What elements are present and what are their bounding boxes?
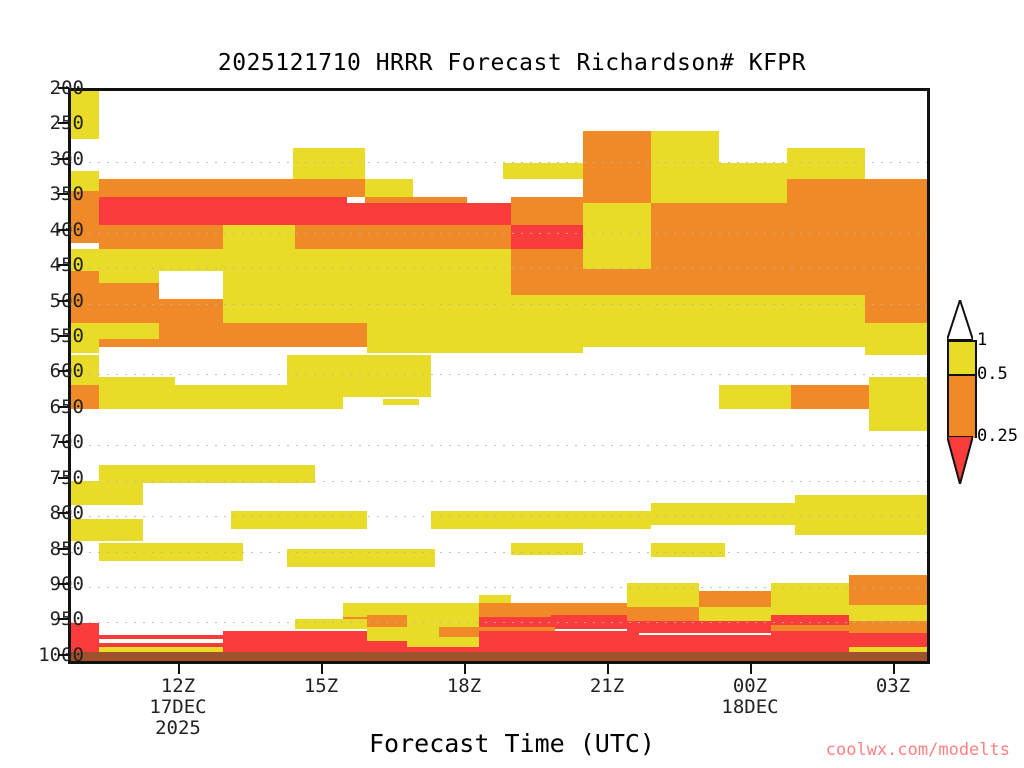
x-axis-tick-label: 00Z18DEC	[721, 676, 778, 718]
heatmap-cell	[787, 179, 865, 203]
heatmap-cell	[223, 323, 367, 347]
heatmap-cell	[159, 323, 223, 347]
heatmap-cell	[865, 249, 930, 295]
heatmap-cell	[503, 163, 583, 179]
heatmap-cell	[99, 197, 223, 225]
heatmap-cell	[865, 203, 930, 249]
heatmap-cell	[99, 283, 159, 299]
heatmap-cell	[99, 225, 223, 249]
heatmap-cell	[223, 225, 295, 249]
colorbar-segment	[947, 340, 977, 376]
chart-page: 2025121710 HRRR Forecast Richardson# KFP…	[0, 0, 1024, 768]
heatmap-cell	[511, 339, 583, 353]
y-axis-tick-mark	[58, 654, 69, 656]
y-axis-tick-mark	[58, 477, 69, 479]
heatmap-cell	[223, 265, 295, 299]
x-axis-tick-mark	[178, 664, 180, 674]
heatmap-cell	[869, 377, 930, 401]
heatmap-cell	[651, 249, 719, 295]
heatmap-cell	[849, 575, 930, 605]
x-axis-tick-line: 00Z	[721, 676, 778, 697]
heatmap-cell	[627, 607, 699, 621]
x-axis-tick-line: 17DEC	[149, 697, 206, 718]
plot-area	[68, 88, 930, 664]
x-axis-tick-line: 18DEC	[721, 697, 778, 718]
heatmap-cell	[787, 203, 865, 249]
heatmap-cell	[651, 543, 725, 557]
heatmap-cell	[869, 401, 930, 431]
heatmap-cell	[651, 179, 719, 203]
heatmap-cell	[99, 249, 223, 271]
y-axis-tick-mark	[58, 264, 69, 266]
y-axis-tick-mark	[58, 406, 69, 408]
x-axis-tick-label: 21Z	[590, 676, 624, 697]
heatmap-cell	[99, 179, 223, 197]
heatmap-cell	[583, 249, 651, 269]
heatmap-cell	[295, 225, 439, 249]
heatmap-cell	[99, 639, 223, 643]
heatmap-cell	[849, 621, 930, 633]
heatmap-cells	[71, 91, 927, 661]
heatmap-cell	[651, 323, 719, 347]
heatmap-cell	[551, 615, 627, 629]
heatmap-cell	[651, 503, 723, 525]
x-axis-tick-mark	[750, 664, 752, 674]
heatmap-cell	[243, 465, 315, 483]
heatmap-cell	[699, 621, 771, 633]
heatmap-cell	[699, 607, 771, 621]
heatmap-cell	[795, 495, 867, 513]
x-axis-tick-line: 03Z	[876, 676, 910, 697]
heatmap-cell	[865, 295, 930, 323]
heatmap-cell	[719, 163, 787, 203]
heatmap-cell	[295, 511, 367, 529]
heatmap-cell	[511, 197, 583, 225]
heatmap-cell	[383, 399, 419, 405]
heatmap-cell	[867, 495, 930, 513]
heatmap-cell	[367, 339, 511, 353]
heatmap-cell	[511, 225, 583, 249]
heatmap-cell	[99, 271, 159, 283]
y-axis-tick-mark	[58, 158, 69, 160]
colorbar-tick-label: 0.5	[977, 364, 1008, 384]
heatmap-cell	[231, 511, 295, 529]
x-axis-tick-label: 18Z	[447, 676, 481, 697]
heatmap-cell	[579, 511, 651, 529]
heatmap-cell	[795, 513, 930, 535]
heatmap-cell	[719, 323, 787, 347]
x-axis-tick-mark	[893, 664, 895, 674]
heatmap-cell	[719, 385, 791, 409]
heatmap-cell	[383, 385, 415, 393]
x-axis-tick-line: 18Z	[447, 676, 481, 697]
heatmap-cell	[791, 385, 869, 409]
colorbar-arrow-bottom	[947, 436, 973, 484]
heatmap-cell	[407, 637, 479, 647]
heatmap-cell	[295, 631, 367, 641]
colorbar-arrow-top-outline	[947, 300, 973, 340]
heatmap-cell	[439, 225, 511, 249]
heatmap-cell	[479, 631, 639, 641]
heatmap-cell	[293, 148, 365, 179]
heatmap-cell	[407, 615, 479, 627]
y-axis-tick-mark	[58, 122, 69, 124]
heatmap-cell	[771, 615, 849, 625]
heatmap-cell	[719, 295, 787, 323]
heatmap-cell	[295, 619, 367, 629]
heatmap-cell	[719, 203, 787, 249]
heatmap-cell	[865, 179, 930, 203]
heatmap-cell	[365, 179, 413, 199]
heatmap-cell	[511, 249, 583, 295]
x-axis-tick-line: 12Z	[149, 676, 206, 697]
heatmap-cell	[295, 265, 367, 299]
y-axis-tick-mark	[58, 370, 69, 372]
y-axis-tick-mark	[58, 300, 69, 302]
y-axis-tick-mark	[58, 87, 69, 89]
y-axis-tick-mark	[58, 583, 69, 585]
y-axis-tick-mark	[58, 441, 69, 443]
heatmap-cell	[223, 197, 347, 225]
y-axis-tick-mark	[58, 618, 69, 620]
y-axis-tick-mark	[58, 335, 69, 337]
heatmap-cell	[99, 543, 243, 561]
heatmap-cell	[583, 295, 651, 325]
heatmap-cell	[583, 131, 651, 179]
heatmap-cell	[651, 203, 719, 249]
y-axis-tick-mark	[58, 229, 69, 231]
heatmap-cell	[365, 197, 467, 203]
heatmap-cell	[583, 179, 651, 203]
heatmap-cell	[247, 385, 343, 409]
heatmap-cell	[583, 323, 651, 347]
heatmap-cell	[627, 583, 699, 607]
heatmap-cell	[651, 295, 719, 323]
heatmap-cell	[511, 295, 583, 325]
heatmap-cell	[367, 265, 511, 299]
chart-title: 2025121710 HRRR Forecast Richardson# KFP…	[0, 50, 1024, 76]
heatmap-cell	[723, 503, 795, 525]
heatmap-cell	[99, 377, 175, 385]
heatmap-cell	[431, 511, 511, 529]
heatmap-cell	[479, 603, 551, 617]
x-axis-tick-mark	[464, 664, 466, 674]
x-axis-tick-mark	[321, 664, 323, 674]
heatmap-cell	[99, 323, 159, 339]
heatmap-cell	[651, 131, 719, 179]
x-axis-tick-label: 03Z	[876, 676, 910, 697]
y-axis-tick-mark	[58, 512, 69, 514]
heatmap-cell	[361, 549, 435, 567]
x-axis-tick-label: 15Z	[304, 676, 338, 697]
heatmap-cell	[467, 203, 511, 225]
heatmap-cell	[583, 203, 651, 249]
y-axis-tick-mark	[58, 548, 69, 550]
heatmap-cell	[287, 549, 361, 567]
heatmap-cell	[511, 511, 583, 529]
heatmap-cell	[511, 543, 583, 555]
heatmap-cell	[787, 148, 865, 179]
heatmap-cell	[865, 339, 930, 355]
colorbar-segment	[947, 374, 977, 438]
heatmap-cell	[787, 249, 865, 295]
colorbar-tick-label: 0.25	[977, 426, 1018, 446]
x-axis-tick-line: 15Z	[304, 676, 338, 697]
heatmap-cell	[347, 203, 467, 225]
y-axis-tick-mark	[58, 193, 69, 195]
colorbar-tick-label: 1	[977, 330, 987, 350]
heatmap-cell	[99, 385, 247, 409]
x-axis-tick-mark	[607, 664, 609, 674]
x-axis-tick-line: 21Z	[590, 676, 624, 697]
heatmap-cell	[719, 249, 787, 295]
heatmap-cell	[367, 249, 439, 265]
heatmap-cell	[583, 269, 651, 295]
heatmap-cell	[787, 295, 865, 323]
heatmap-cell	[849, 605, 930, 621]
heatmap-cell	[71, 657, 930, 661]
heatmap-cell	[771, 583, 849, 607]
heatmap-cell	[223, 631, 295, 641]
heatmap-cell	[787, 323, 865, 347]
credit-watermark: coolwx.com/modelts	[826, 740, 1010, 760]
heatmap-cell	[223, 179, 365, 197]
